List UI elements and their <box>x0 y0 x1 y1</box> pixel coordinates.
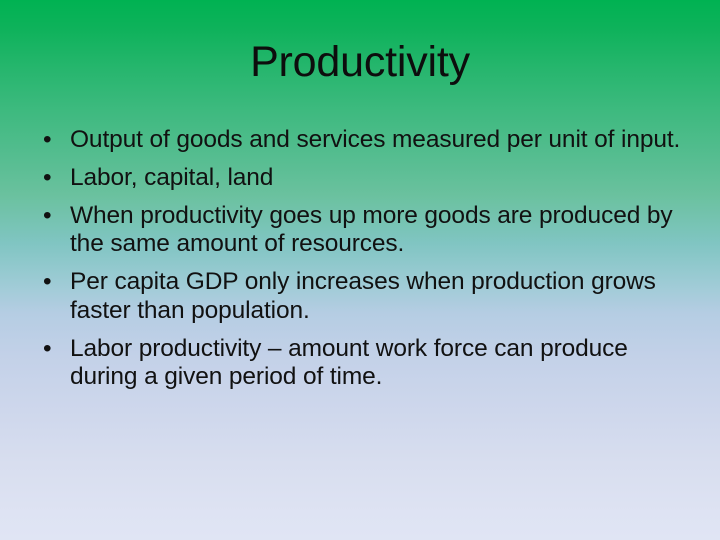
slide-title-placeholder[interactable]: Productivity <box>36 22 684 104</box>
bullet-dot-icon: • <box>43 268 51 297</box>
page-title: Productivity <box>250 40 470 86</box>
list-item-label: Per capita GDP only increases when produ… <box>70 268 690 326</box>
bullet-dot-icon: • <box>43 202 51 231</box>
list-item[interactable]: • Output of goods and services measured … <box>30 126 690 155</box>
bullet-list: • Output of goods and services measured … <box>30 126 690 392</box>
slide: Productivity • Output of goods and servi… <box>0 0 720 540</box>
list-item-label: When productivity goes up more goods are… <box>70 202 690 260</box>
list-item-label: Output of goods and services measured pe… <box>70 126 690 155</box>
list-item[interactable]: • Labor productivity – amount work force… <box>30 335 690 393</box>
bullet-dot-icon: • <box>43 164 51 193</box>
list-item[interactable]: • Per capita GDP only increases when pro… <box>30 268 690 326</box>
list-item[interactable]: • Labor, capital, land <box>30 164 690 193</box>
list-item-label: Labor, capital, land <box>70 164 690 193</box>
list-item[interactable]: • When productivity goes up more goods a… <box>30 202 690 260</box>
bullet-dot-icon: • <box>43 335 51 364</box>
slide-body-placeholder[interactable]: • Output of goods and services measured … <box>30 126 690 518</box>
bullet-dot-icon: • <box>43 126 51 155</box>
list-item-label: Labor productivity – amount work force c… <box>70 335 690 393</box>
